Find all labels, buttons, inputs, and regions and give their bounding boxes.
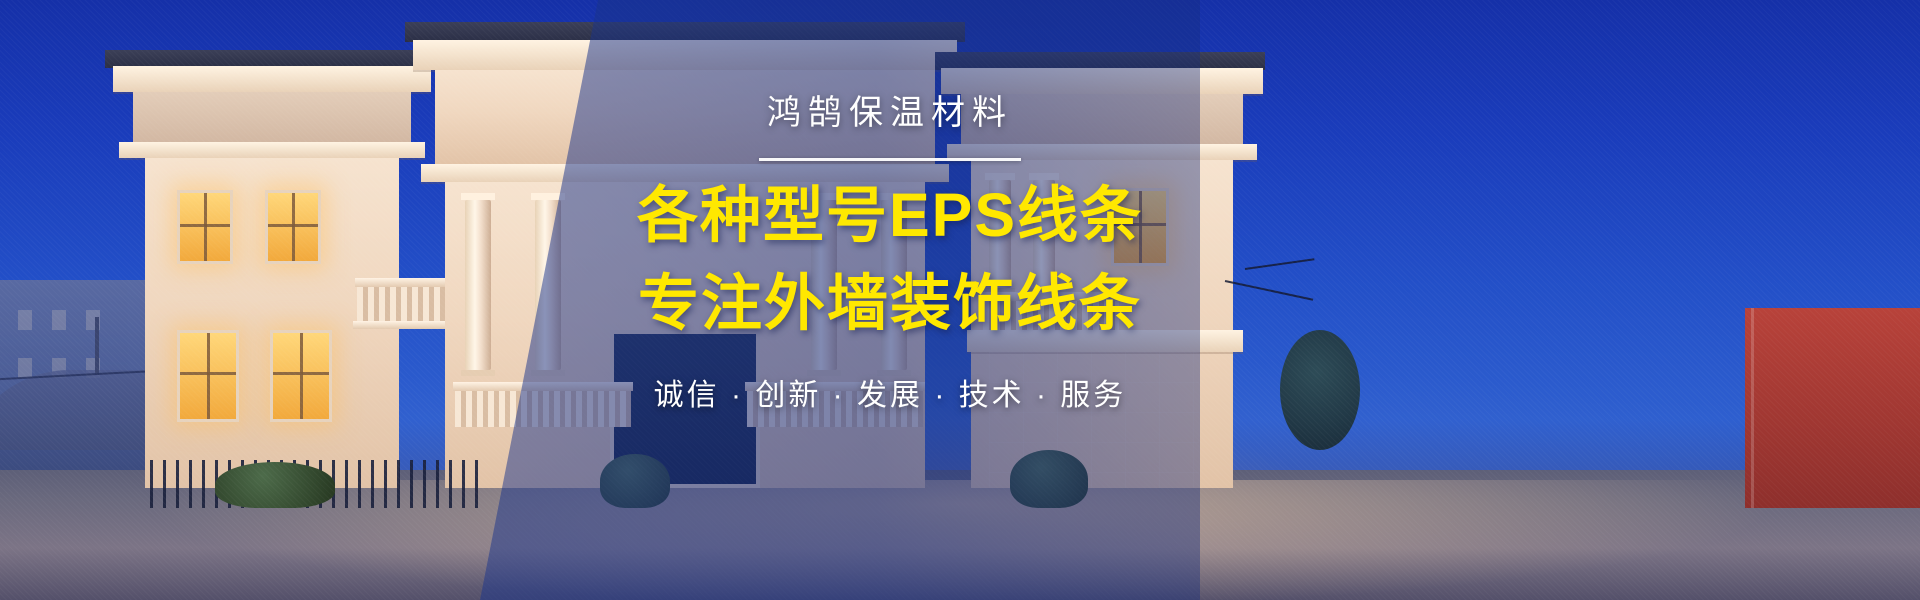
divider-rule — [759, 158, 1021, 161]
headline-line-1: 各种型号EPS线条 — [560, 183, 1220, 249]
hero-banner: 鸿鹄保温材料 各种型号EPS线条 专注外墙装饰线条 诚信 · 创新 · 发展 ·… — [0, 0, 1920, 600]
headline-line-2: 专注外墙装饰线条 — [560, 271, 1220, 337]
banner-tagline: 诚信 · 创新 · 发展 · 技术 · 服务 — [560, 370, 1220, 414]
banner-text-block: 鸿鹄保温材料 各种型号EPS线条 专注外墙装饰线条 诚信 · 创新 · 发展 ·… — [560, 96, 1220, 414]
brand-kicker: 鸿鹄保温材料 — [560, 96, 1220, 130]
